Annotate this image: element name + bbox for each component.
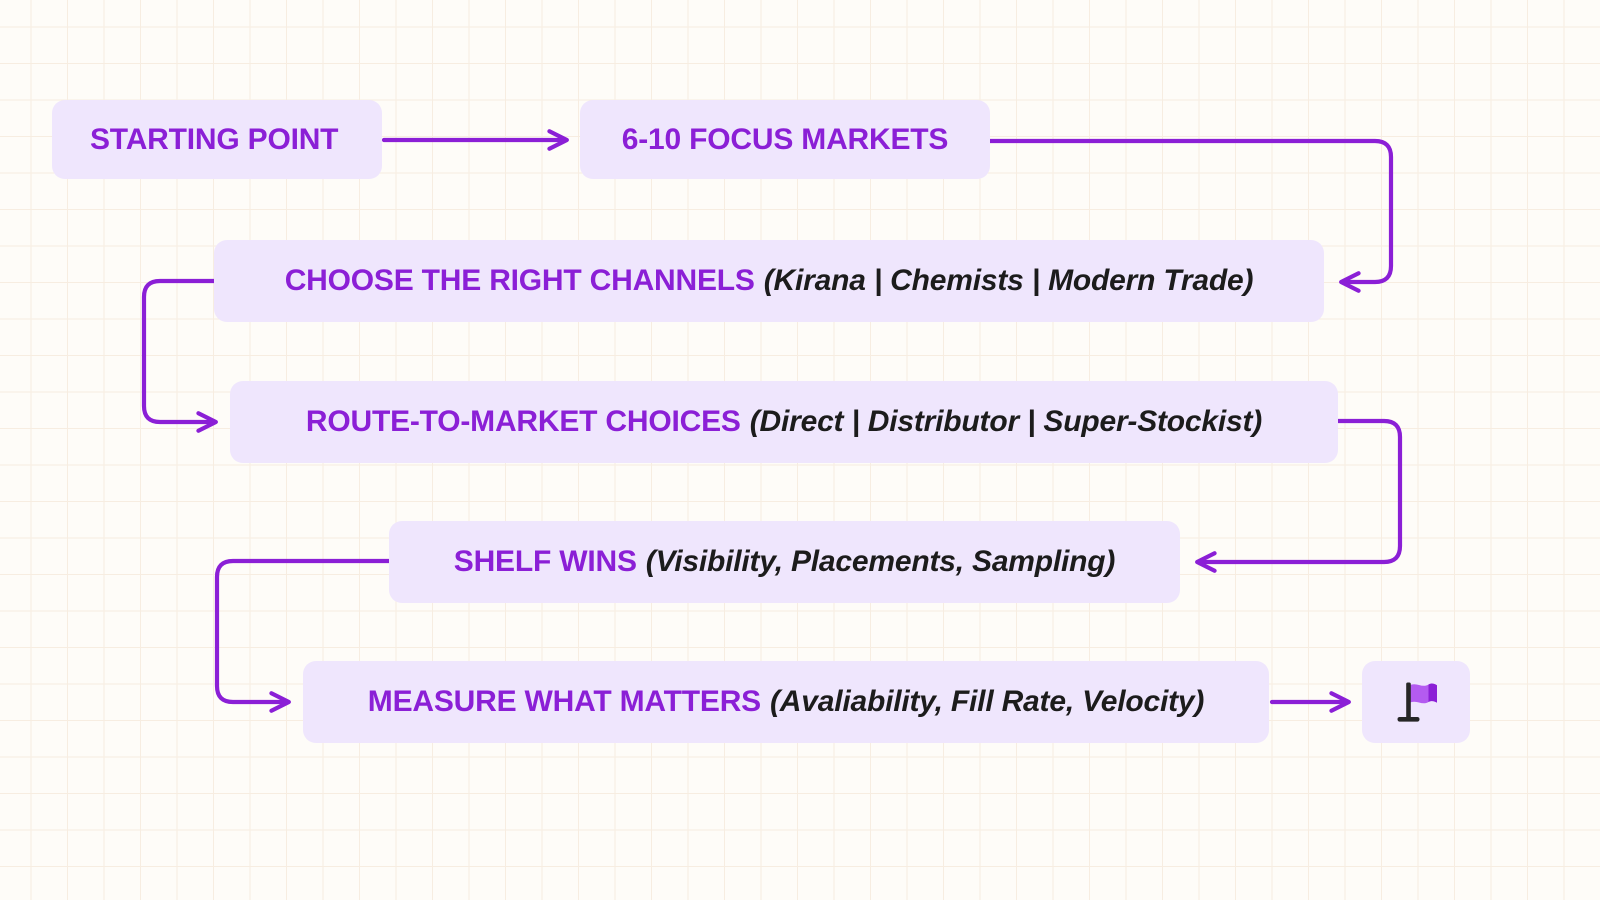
node-route-to-market[interactable]: ROUTE-TO-MARKET CHOICES (Direct | Distri… xyxy=(230,381,1338,463)
node-route-to-market-detail: (Direct | Distributor | Super-Stockist) xyxy=(750,407,1262,437)
node-shelf-wins-detail: (Visibility, Placements, Sampling) xyxy=(646,547,1115,577)
node-measure-what-matters[interactable]: MEASURE WHAT MATTERS (Avaliability, Fill… xyxy=(303,661,1269,743)
node-choose-channels-heading: CHOOSE THE RIGHT CHANNELS xyxy=(285,266,755,296)
node-goal[interactable] xyxy=(1362,661,1470,743)
node-focus-markets[interactable]: 6-10 FOCUS MARKETS xyxy=(580,100,990,179)
diagram-canvas: STARTING POINT 6-10 FOCUS MARKETS CHOOSE… xyxy=(0,0,1600,900)
node-measure-what-matters-heading: MEASURE WHAT MATTERS xyxy=(368,687,761,717)
node-shelf-wins[interactable]: SHELF WINS (Visibility, Placements, Samp… xyxy=(389,521,1180,603)
node-focus-markets-heading: 6-10 FOCUS MARKETS xyxy=(622,125,948,155)
node-starting-point-heading: STARTING POINT xyxy=(90,125,338,155)
flag-icon xyxy=(1390,676,1442,728)
node-choose-channels-detail: (Kirana | Chemists | Modern Trade) xyxy=(764,266,1254,296)
node-choose-channels[interactable]: CHOOSE THE RIGHT CHANNELS (Kirana | Chem… xyxy=(214,240,1324,322)
node-route-to-market-heading: ROUTE-TO-MARKET CHOICES xyxy=(306,407,741,437)
node-shelf-wins-heading: SHELF WINS xyxy=(454,547,637,577)
connector-channels-to-rtm xyxy=(144,281,215,422)
node-measure-what-matters-detail: (Avaliability, Fill Rate, Velocity) xyxy=(770,687,1204,717)
node-starting-point[interactable]: STARTING POINT xyxy=(52,100,382,179)
